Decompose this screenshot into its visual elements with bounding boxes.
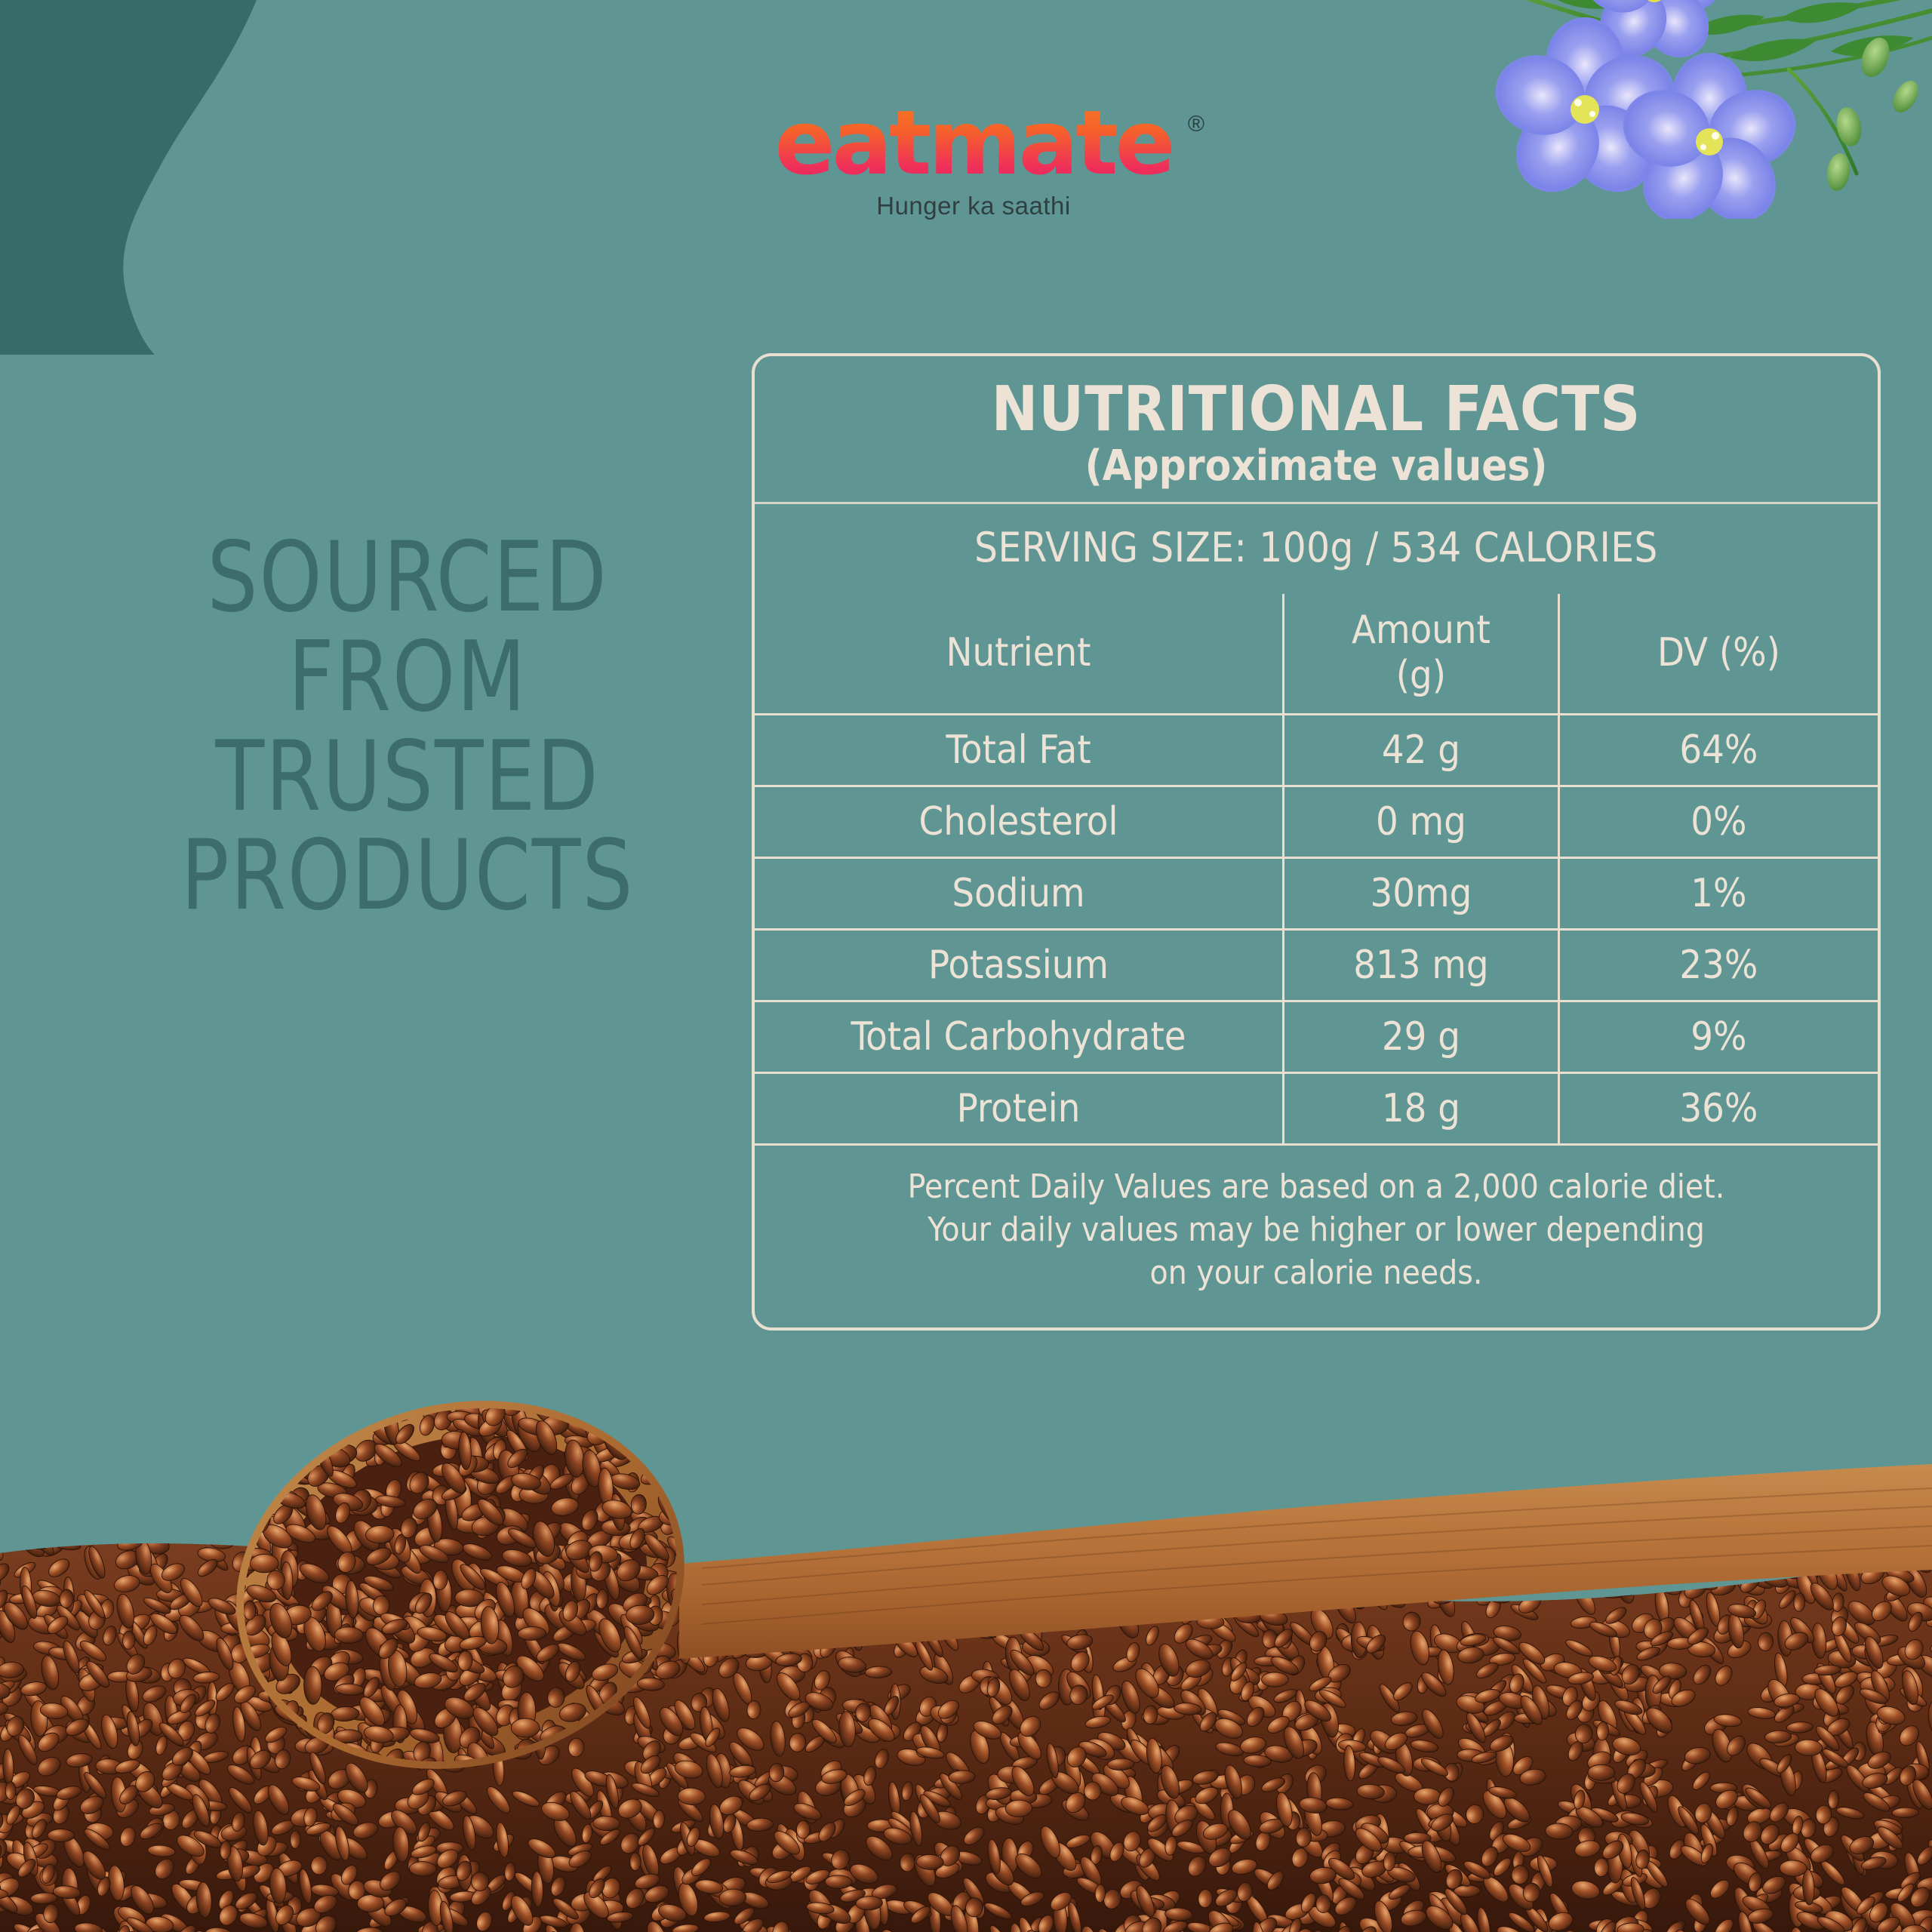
cell-dv: 36% bbox=[1558, 1072, 1878, 1143]
cell-nutrient: Total Fat bbox=[755, 714, 1284, 786]
table-row: Potassium 813 mg 23% bbox=[755, 929, 1878, 1001]
table-row: Sodium 30mg 1% bbox=[755, 857, 1878, 929]
cell-dv: 64% bbox=[1558, 714, 1878, 786]
headline-line-1: SOURCED bbox=[116, 528, 700, 628]
headline-line-3: TRUSTED bbox=[116, 728, 700, 827]
column-header-nutrient: Nutrient bbox=[755, 594, 1284, 715]
cell-nutrient: Sodium bbox=[755, 857, 1284, 929]
column-header-amount: Amount (g) bbox=[1284, 594, 1559, 715]
cell-amount: 30mg bbox=[1284, 857, 1559, 929]
table-row: Cholesterol 0 mg 0% bbox=[755, 786, 1878, 857]
headline: SOURCED FROM TRUSTED PRODUCTS bbox=[116, 528, 700, 926]
table-row: Total Fat 42 g 64% bbox=[755, 714, 1878, 786]
cell-amount: 0 mg bbox=[1284, 786, 1559, 857]
brand-logo: eatmate ® Hunger ka saathi bbox=[664, 98, 1283, 220]
nutrition-facts-card: NUTRITIONAL FACTS (Approximate values) S… bbox=[752, 353, 1881, 1331]
poster-canvas: eatmate ® Hunger ka saathi bbox=[0, 0, 1932, 1932]
table-header-row: Nutrient Amount (g) DV (%) bbox=[755, 594, 1878, 715]
cell-amount: 18 g bbox=[1284, 1072, 1559, 1143]
cell-dv: 23% bbox=[1558, 929, 1878, 1001]
registered-trademark-icon: ® bbox=[1188, 112, 1204, 137]
cell-dv: 9% bbox=[1558, 1001, 1878, 1072]
nutrition-table: Nutrient Amount (g) DV (%) Total Fat 42 … bbox=[755, 594, 1878, 1143]
cell-dv: 1% bbox=[1558, 857, 1878, 929]
column-header-amount-line2: (g) bbox=[1289, 653, 1553, 698]
footnote-line-1: Percent Daily Values are based on a 2,00… bbox=[785, 1165, 1847, 1208]
cell-nutrient: Cholesterol bbox=[755, 786, 1284, 857]
daily-value-footnote: Percent Daily Values are based on a 2,00… bbox=[755, 1143, 1878, 1303]
footnote-line-3: on your calorie needs. bbox=[785, 1251, 1847, 1294]
cell-nutrient: Protein bbox=[755, 1072, 1284, 1143]
table-row: Total Carbohydrate 29 g 9% bbox=[755, 1001, 1878, 1072]
table-row: Protein 18 g 36% bbox=[755, 1072, 1878, 1143]
corner-blob-shape bbox=[0, 0, 332, 355]
flax-flowers-illustration bbox=[1464, 0, 1932, 219]
divider bbox=[755, 502, 1878, 504]
brand-tagline: Hunger ka saathi bbox=[664, 192, 1283, 220]
column-header-dv: DV (%) bbox=[1558, 594, 1878, 715]
headline-line-2: FROM bbox=[116, 628, 700, 728]
flax-seed-photo bbox=[0, 1358, 1932, 1932]
card-subtitle: (Approximate values) bbox=[755, 443, 1878, 502]
headline-line-4: PRODUCTS bbox=[116, 826, 700, 926]
cell-nutrient: Total Carbohydrate bbox=[755, 1001, 1284, 1072]
cell-dv: 0% bbox=[1558, 786, 1878, 857]
cell-amount: 42 g bbox=[1284, 714, 1559, 786]
cell-amount: 813 mg bbox=[1284, 929, 1559, 1001]
footnote-line-2: Your daily values may be higher or lower… bbox=[785, 1208, 1847, 1251]
cell-amount: 29 g bbox=[1284, 1001, 1559, 1072]
brand-name: eatmate bbox=[774, 98, 1172, 187]
serving-size: SERVING SIZE: 100g / 534 CALORIES bbox=[755, 504, 1878, 594]
card-title: NUTRITIONAL FACTS bbox=[755, 356, 1878, 443]
cell-nutrient: Potassium bbox=[755, 929, 1284, 1001]
column-header-amount-line1: Amount bbox=[1289, 608, 1553, 653]
